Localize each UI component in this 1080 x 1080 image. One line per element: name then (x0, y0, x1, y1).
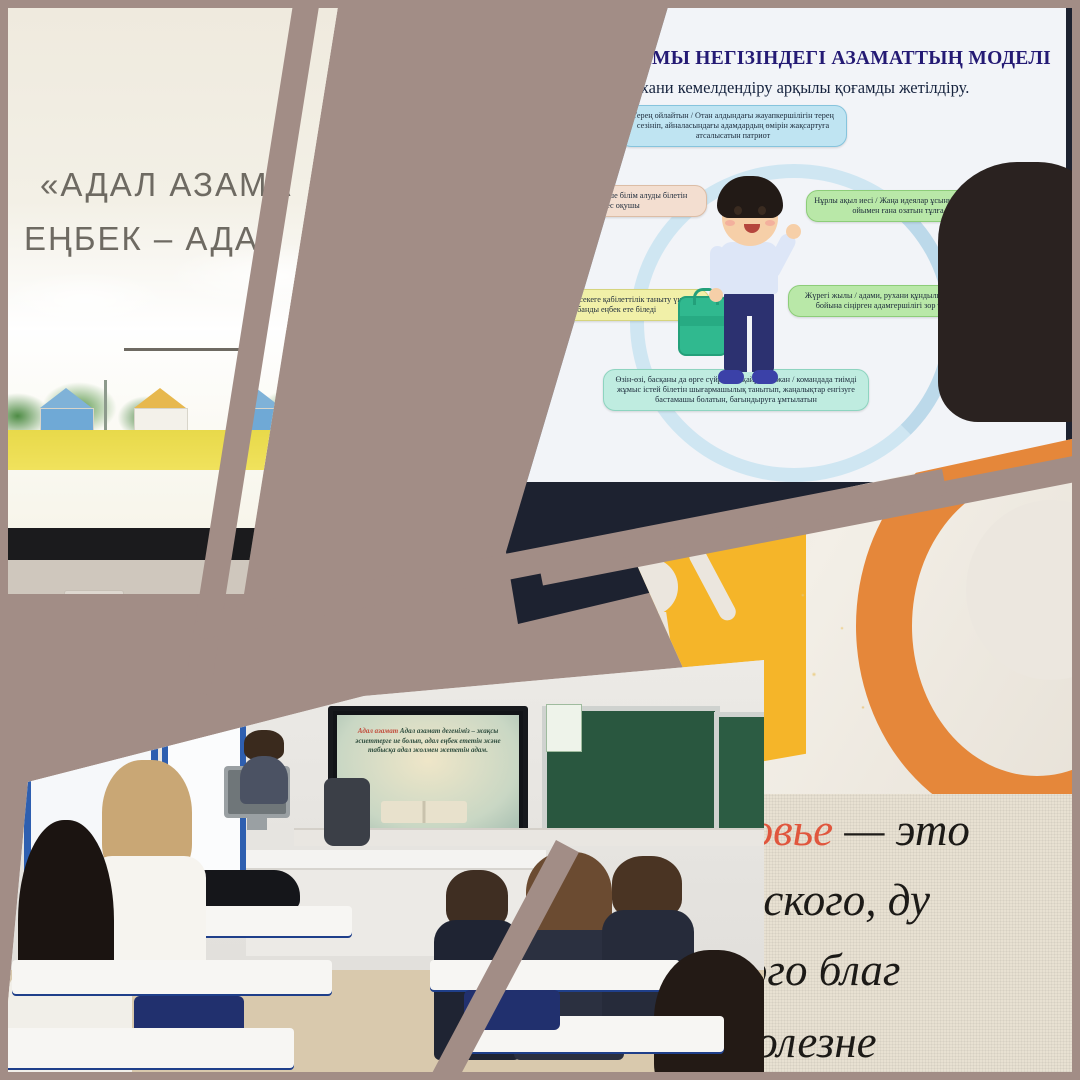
boy-eye (734, 206, 742, 215)
wall-chart-spectrum: ЭЛЕКТРМАГНИТТІ ТОЛҚЫНДАРДЫҢ ШКАЛАСЫ / ШК… (312, 660, 616, 676)
boy-shoe (752, 370, 778, 384)
slide-house (40, 388, 94, 436)
collage-border-bottom (0, 1072, 1080, 1080)
monitor-logo-icon (426, 539, 488, 547)
slide-subheading-rest: жастарды рухани кемелдендіру арқылы қоға… (548, 78, 970, 97)
slide-underline (124, 348, 244, 351)
boy-blush (765, 220, 775, 226)
wall-socket-plate (64, 590, 124, 594)
slide-subheading-key: Мақсаты: (473, 78, 548, 97)
slide-utility-pole (436, 380, 439, 436)
spectrum-icon (418, 660, 453, 663)
schoolboy-illustration (694, 176, 806, 404)
slide-title-line2: ЕҢБЕК – АДАЛ (24, 212, 283, 266)
display-text-highlight: Адал азамат (358, 727, 398, 735)
student-foreground (654, 950, 764, 1080)
panel-projector-slide: «АДАЛ АЗАМА ЕҢБЕК – АДАЛ (0, 0, 554, 594)
monitor-stand (247, 818, 267, 830)
spectrum-icon (335, 660, 370, 671)
panel-classroom: ЭЛЕКТРМАГНИТТІ ТОЛҚЫНДАРДЫҢ ШКАЛАСЫ / ШК… (0, 660, 764, 1080)
student-desk (0, 1028, 294, 1068)
slide-house (354, 388, 408, 436)
boy-shoe (718, 370, 744, 384)
student-at-front (240, 730, 288, 800)
boy-blush (725, 220, 735, 226)
screen-bezel (0, 528, 544, 560)
spectrum-icon (376, 660, 411, 667)
photo-collage: «АДАЛ АЗАМА ЕҢБЕК – АДАЛ «ТОЛЫҚ АДАМ» ТА… (0, 0, 1080, 1080)
open-book-graphic (381, 801, 467, 823)
slide-house (134, 388, 188, 436)
model-box-patriot: Терең ойлайтын / Отан алдындағы жауапкер… (619, 105, 847, 147)
slide-subheading: Мақсаты: жастарды рухани кемелдендіру ар… (376, 78, 1066, 98)
collage-border-right (1072, 0, 1080, 1080)
chalkboard-side-panel (714, 712, 764, 840)
slide-title-line1: «АДАЛ АЗАМА (40, 158, 292, 212)
display-text: Адал азамат Адал азамат дегеніміз – жақс… (345, 727, 511, 756)
wall-certificate (546, 704, 582, 752)
health-line1-rest: — это (833, 805, 970, 855)
student-desk (12, 960, 332, 994)
boy-shirt (720, 242, 778, 294)
boy-right-hand (786, 224, 801, 239)
boy-left-hand (709, 288, 723, 302)
backpack-icon (678, 296, 728, 356)
model-box-talapty: Талапты / Өз бетінше білім алуды білетін… (523, 185, 707, 217)
collage-border-left (0, 0, 8, 1080)
student-desk (430, 960, 680, 990)
slide-utility-pole (104, 380, 107, 436)
collage-border-top (0, 0, 1080, 8)
boy-left-arm (710, 246, 725, 292)
slide-field (0, 430, 544, 470)
slide-heading: «ТОЛЫҚ АДАМ» ТАҒЫЛЫМЫ НЕГІЗІНДЕГІ АЗАМАТ… (376, 48, 1066, 70)
viewer-head-silhouette (938, 162, 1080, 422)
backpack (324, 778, 370, 846)
boy-hair (717, 176, 783, 218)
boy-eye (758, 206, 766, 215)
